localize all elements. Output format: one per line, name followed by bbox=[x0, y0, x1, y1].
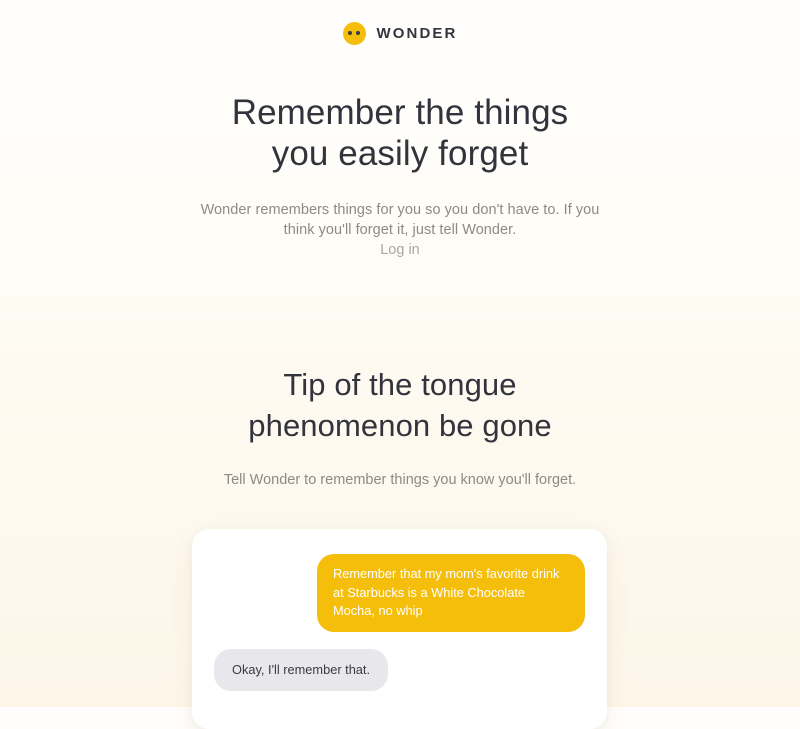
wonder-face-icon bbox=[343, 22, 366, 45]
logo-eye-left bbox=[348, 31, 352, 35]
brand-header[interactable]: WONDER bbox=[0, 0, 800, 46]
chat-bubble-user: Remember that my mom's favorite drink at… bbox=[317, 554, 585, 632]
feature-title: Tip of the tongue phenomenon be gone bbox=[0, 364, 800, 446]
chat-bubble-wonder: Okay, I'll remember that. bbox=[214, 649, 388, 692]
feature-title-line-2: phenomenon be gone bbox=[0, 405, 800, 446]
hero-title-line-2: you easily forget bbox=[0, 133, 800, 174]
brand-name: WONDER bbox=[377, 25, 458, 42]
hero-subtitle: Wonder remembers things for you so you d… bbox=[195, 200, 605, 240]
chat-message-list[interactable]: Remember that my mom's favorite drink at… bbox=[192, 529, 607, 711]
logo-eye-right bbox=[356, 31, 360, 35]
hero-title: Remember the things you easily forget bbox=[0, 92, 800, 174]
hero-section: Remember the things you easily forget Wo… bbox=[0, 92, 800, 260]
feature-title-line-1: Tip of the tongue bbox=[0, 364, 800, 405]
feature-section: Tip of the tongue phenomenon be gone Tel… bbox=[0, 364, 800, 490]
chat-message-row-user: Remember that my mom's favorite drink at… bbox=[214, 554, 585, 632]
landing-page: WONDER Remember the things you easily fo… bbox=[0, 0, 800, 707]
login-link[interactable]: Log in bbox=[0, 240, 800, 260]
hero-title-line-1: Remember the things bbox=[0, 92, 800, 133]
chat-message-row-wonder: Okay, I'll remember that. bbox=[214, 649, 585, 692]
chat-demo-card: Remember that my mom's favorite drink at… bbox=[192, 529, 607, 729]
feature-subtitle: Tell Wonder to remember things you know … bbox=[0, 470, 800, 490]
